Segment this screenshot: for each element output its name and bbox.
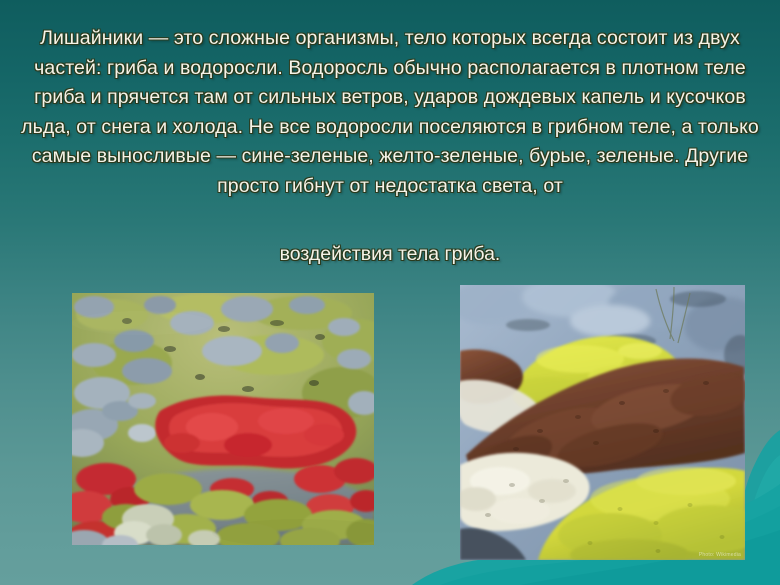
left-photo-illustration [72,293,374,545]
presentation-slide: Лишайники — это сложные организмы, тело … [0,0,780,585]
slide-body-paragraph-2: воздействия тела гриба. [18,240,762,270]
photo-watermark: Photo: Wikimedia [699,552,741,558]
right-photo-illustration [460,285,745,560]
image-right-yellow-brown-lichen: Photo: Wikimedia [460,285,745,560]
slide-body-paragraph-1: Лишайники — это сложные организмы, тело … [18,24,762,201]
image-left-red-lichen [72,293,374,545]
